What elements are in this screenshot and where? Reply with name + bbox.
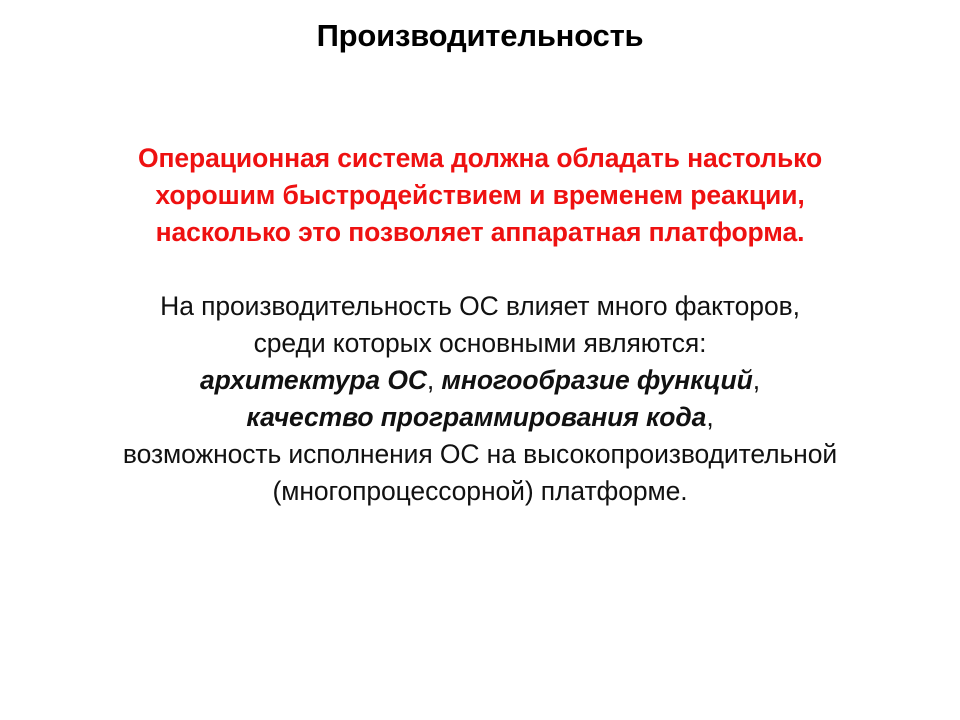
body-line-4-factors-b: качество программирования кода,: [40, 399, 920, 436]
body-line-1: На производительность ОС влияет много фа…: [40, 288, 920, 325]
emphasis-separator-2: ,: [753, 365, 760, 395]
page-title: Производительность: [0, 16, 960, 56]
emphasis-code-quality: качество программирования кода: [246, 402, 706, 432]
slide-canvas: Производительность Операционная система …: [0, 0, 960, 720]
highlight-line-2: хорошим быстродействием и временем реакц…: [40, 177, 920, 214]
highlight-line-3: насколько это позволяет аппаратная платф…: [40, 214, 920, 251]
highlight-paragraph: Операционная система должна обладать нас…: [40, 140, 920, 251]
body-paragraph: На производительность ОС влияет много фа…: [40, 288, 920, 510]
emphasis-separator-1: ,: [427, 365, 442, 395]
slide-body: Операционная система должна обладать нас…: [40, 140, 920, 510]
highlight-line-1: Операционная система должна обладать нас…: [40, 140, 920, 177]
body-line-2: среди которых основными являются:: [40, 325, 920, 362]
body-line-5: возможность исполнения ОС на высокопроиз…: [40, 436, 920, 473]
emphasis-separator-3: ,: [706, 402, 713, 432]
emphasis-architecture: архитектура ОС: [200, 365, 427, 395]
body-line-6: (многопроцессорной) платформе.: [40, 473, 920, 510]
body-line-3-factors-a: архитектура ОС, многообразие функций,: [40, 362, 920, 399]
emphasis-functions: многообразие функций: [441, 365, 752, 395]
